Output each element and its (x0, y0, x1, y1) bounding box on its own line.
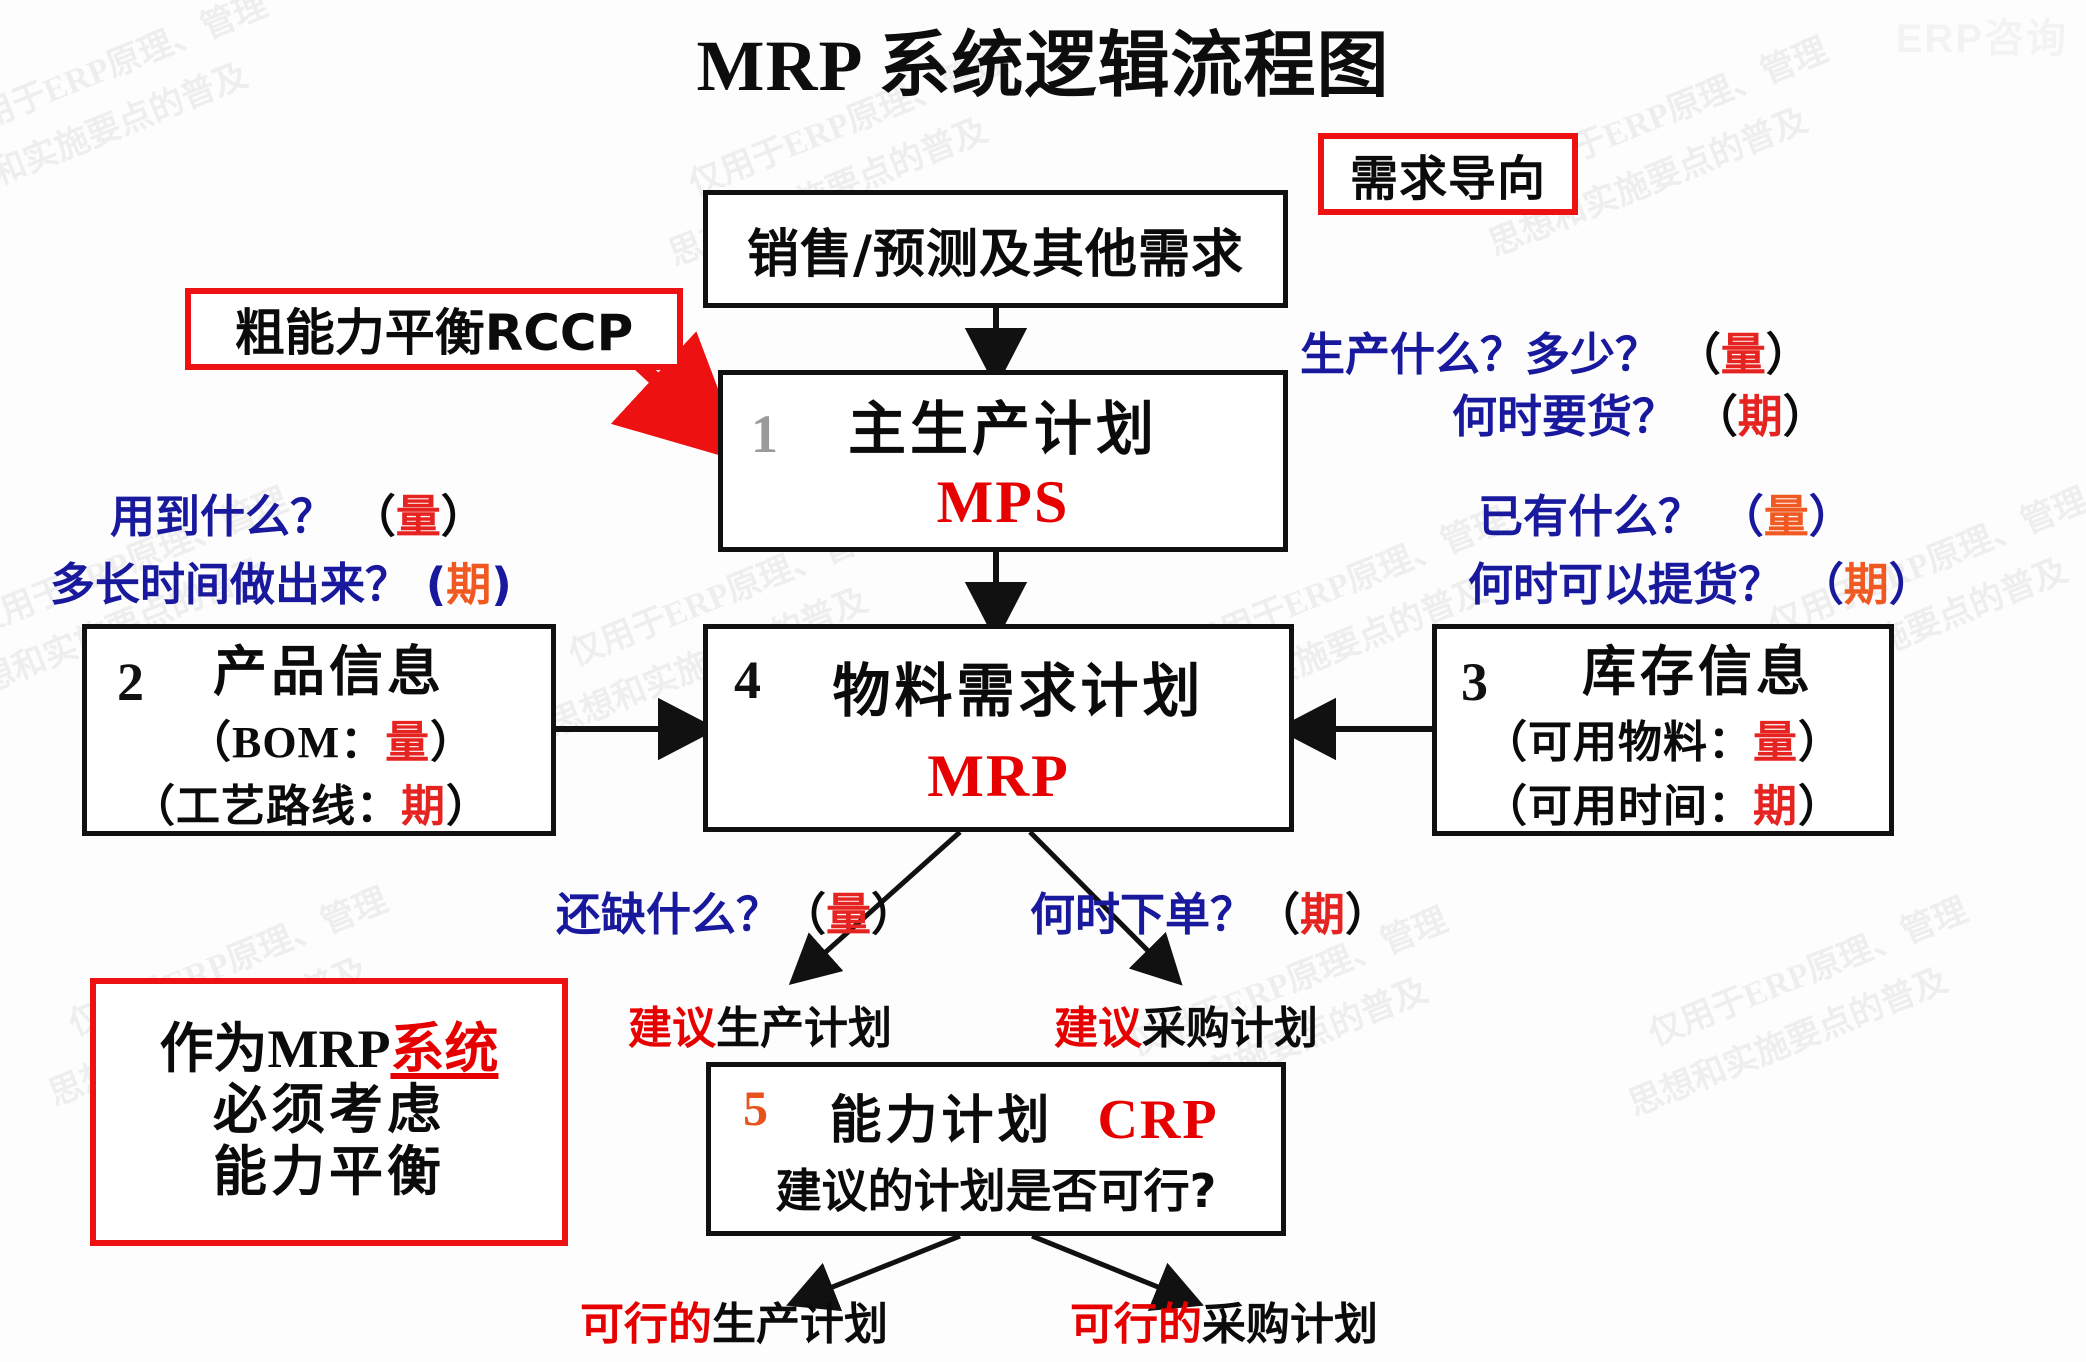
box-inventory-material-suffix: ） (1798, 717, 1843, 768)
question-product-what-used-text: 用到什么？ (110, 490, 335, 543)
callout-note-line2: 必须考虑 (213, 1079, 445, 1142)
question-when-order-text: 何时下单？ (1030, 888, 1255, 941)
box-crp-title: 能力计划 (829, 1091, 1053, 1151)
box-product-info-routing: （工艺路线：期） (131, 770, 491, 834)
box-mps-title: 主生产计划 (848, 382, 1158, 466)
paren-close: ） (871, 888, 916, 941)
box-crp-number: 5 (743, 1079, 768, 1137)
box-inventory-time-key: 期 (1753, 781, 1798, 832)
box-inventory-title: 库存信息 (1582, 627, 1814, 706)
question-what-missing-text: 还缺什么？ (556, 888, 781, 941)
box-product-info-routing-suffix: ） (446, 781, 491, 832)
paren-open: （ (1799, 558, 1844, 611)
page-title-cjk: 系统逻辑流程图 (878, 23, 1389, 107)
box-mps[interactable]: 1 主生产计划 MPS (718, 370, 1288, 552)
paren-open: ( (426, 558, 447, 611)
box-crp[interactable]: 5 能力计划CRP 建议的计划是否可行? (706, 1062, 1286, 1236)
callout-rccp[interactable]: 粗能力平衡RCCP (185, 288, 683, 370)
paren-close: ） (1809, 490, 1854, 543)
callout-note-line3: 能力平衡 (213, 1141, 445, 1204)
question-mps-what-quantity-text: 生产什么？多少？ (1300, 328, 1660, 381)
question-inventory-when-pickup-text: 何时可以提货？ (1468, 558, 1783, 611)
key-period: 期 (1738, 390, 1783, 443)
box-product-info-routing-prefix: （工艺路线： (131, 781, 401, 832)
key-quantity: 量 (826, 888, 871, 941)
question-product-what-used: 用到什么？ （量） (110, 480, 486, 545)
box-inventory-time-prefix: （可用时间： (1483, 781, 1753, 832)
arrow-rccp-to-mps (640, 365, 705, 425)
question-inventory-what-have: 已有什么？ （量） (1478, 480, 1854, 545)
box-product-info-bom-key: 量 (385, 717, 430, 768)
box-crp-heading: 能力计划CRP (829, 1078, 1218, 1153)
paren-close: ） (1783, 390, 1828, 443)
paren-close: ） (1766, 328, 1811, 381)
key-quantity: 量 (1764, 490, 1809, 543)
question-what-missing: 还缺什么？（量） (556, 878, 916, 943)
box-product-info-title: 产品信息 (213, 627, 445, 706)
box-mrp[interactable]: 4 物料需求计划 MRP (703, 624, 1294, 832)
label-suggested-production-plan: 建议生产计划 (628, 992, 892, 1056)
question-product-lead-time: 多长时间做出来？ (期) (50, 548, 512, 613)
question-mps-when-needed: 何时要货？ （期） (1452, 380, 1828, 445)
paren-open: （ (1255, 888, 1300, 941)
paren-open: （ (1676, 328, 1721, 381)
box-crp-acronym: CRP (1097, 1089, 1218, 1151)
question-inventory-when-pickup: 何时可以提货？ （期） (1468, 548, 1934, 613)
callout-rccp-label: 粗能力平衡RCCP (235, 293, 634, 365)
box-mrp-title: 物料需求计划 (832, 644, 1204, 728)
paren-open: （ (1719, 490, 1764, 543)
question-mps-when-needed-text: 何时要货？ (1452, 390, 1677, 443)
callout-demand-driven[interactable]: 需求导向 (1318, 133, 1578, 215)
box-inventory[interactable]: 3 库存信息 （可用物料：量） （可用时间：期） (1432, 624, 1894, 836)
diagram-canvas: 仅用于ERP原理、管理 思想和实施要点的普及 仅用于ERP原理、管理 思想和实施… (0, 0, 2086, 1362)
paren-close: ） (441, 490, 486, 543)
paren-open: （ (1693, 390, 1738, 443)
label-feasible-production-highlight: 可行的 (580, 1299, 712, 1350)
label-suggested-purchase-plan: 建议采购计划 (1054, 992, 1318, 1056)
callout-note-line1-prefix: 作为MRP (160, 1019, 391, 1079)
label-feasible-production-plan: 可行的生产计划 (580, 1288, 888, 1352)
key-period: 期 (1300, 888, 1345, 941)
box-product-info-routing-key: 期 (401, 781, 446, 832)
question-product-lead-time-text: 多长时间做出来？ (50, 558, 410, 611)
box-product-info-bom-suffix: ） (430, 718, 475, 767)
page-title: MRP 系统逻辑流程图 (0, 6, 2086, 111)
box-product-info[interactable]: 2 产品信息 （BOM：量） （工艺路线：期） (82, 624, 556, 836)
box-inventory-material: （可用物料：量） (1483, 706, 1843, 770)
key-quantity: 量 (396, 490, 441, 543)
box-mps-number: 1 (751, 403, 778, 465)
box-product-info-bom-prefix: （BOM： (187, 718, 385, 767)
key-quantity: 量 (1721, 328, 1766, 381)
box-demand[interactable]: 销售/预测及其他需求 (703, 190, 1288, 308)
label-suggested-production-rest: 生产计划 (716, 1003, 892, 1054)
paren-open: （ (781, 888, 826, 941)
box-mps-acronym: MPS (937, 468, 1070, 537)
paren-close: ） (1889, 558, 1934, 611)
box-product-info-number: 2 (117, 651, 144, 713)
box-mrp-acronym: MRP (927, 742, 1070, 811)
paren-open: （ (351, 490, 396, 543)
box-inventory-material-key: 量 (1753, 717, 1798, 768)
page-title-latin: MRP (697, 26, 860, 106)
paren-close: ) (491, 558, 512, 611)
watermark-tile: 思想和实施要点的普及 (1620, 953, 1954, 1126)
label-feasible-production-rest: 生产计划 (712, 1299, 888, 1350)
box-inventory-time: （可用时间：期） (1483, 770, 1843, 834)
box-product-info-bom: （BOM：量） (187, 706, 475, 770)
label-feasible-purchase-plan: 可行的采购计划 (1070, 1288, 1378, 1352)
callout-note-line1-highlight: 系统 (390, 1017, 498, 1080)
box-inventory-number: 3 (1461, 651, 1488, 713)
label-suggested-purchase-highlight: 建议 (1054, 1003, 1142, 1054)
callout-note-line1: 作为MRP系统 (160, 1020, 499, 1078)
box-inventory-material-prefix: （可用物料： (1483, 717, 1753, 768)
callout-demand-driven-label: 需求导向 (1350, 139, 1546, 209)
label-feasible-purchase-highlight: 可行的 (1070, 1299, 1202, 1350)
label-suggested-production-highlight: 建议 (628, 1003, 716, 1054)
label-suggested-purchase-rest: 采购计划 (1142, 1003, 1318, 1054)
box-mrp-number: 4 (734, 649, 761, 711)
label-feasible-purchase-rest: 采购计划 (1202, 1299, 1378, 1350)
question-when-order: 何时下单？（期） (1030, 878, 1390, 943)
box-crp-question: 建议的计划是否可行? (776, 1155, 1217, 1221)
callout-mrp-system-note[interactable]: 作为MRP系统 必须考虑 能力平衡 (90, 978, 568, 1246)
key-period: 期 (1844, 558, 1889, 611)
watermark-tile: 仅用于ERP原理、管理 (1640, 883, 1974, 1056)
question-inventory-what-have-text: 已有什么？ (1478, 490, 1703, 543)
box-demand-title: 销售/预测及其他需求 (747, 212, 1244, 287)
question-mps-what-quantity: 生产什么？多少？ （量） (1300, 318, 1811, 383)
key-period: 期 (446, 558, 491, 611)
box-inventory-time-suffix: ） (1798, 781, 1843, 832)
paren-close: ） (1345, 888, 1390, 941)
